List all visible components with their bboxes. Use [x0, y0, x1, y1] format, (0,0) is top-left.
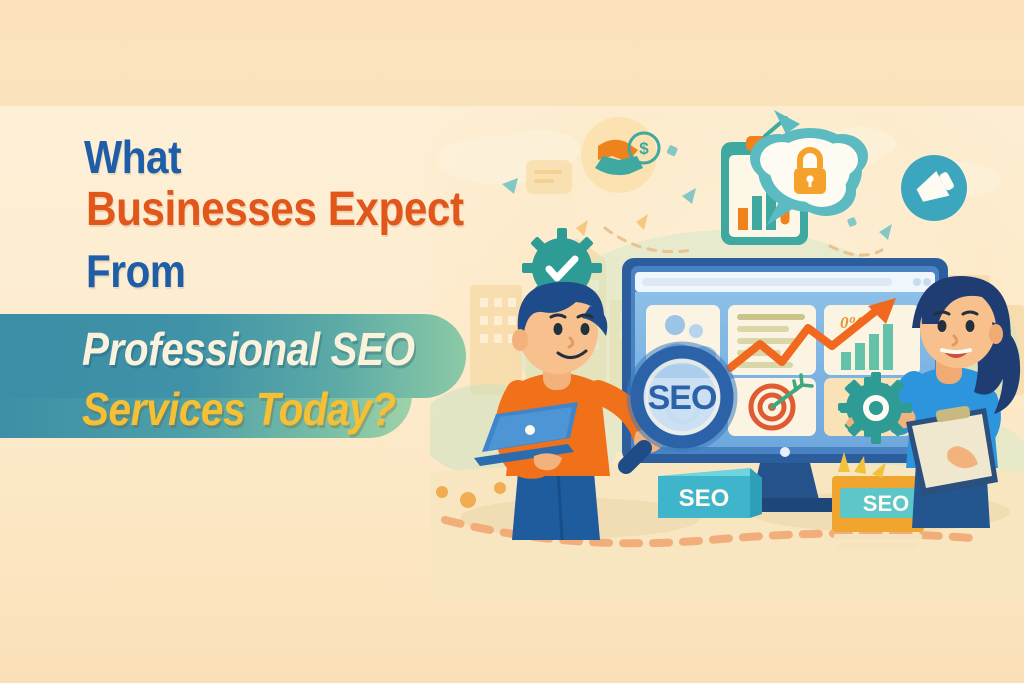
svg-text:$: $ [639, 139, 649, 158]
seo-illustration: $ [430, 100, 1024, 600]
held-gear-icon [840, 372, 912, 444]
headline-line-3: From [86, 244, 185, 298]
headline-line-2: Businesses Expect [86, 182, 464, 237]
seo-box-left: SEO [658, 468, 762, 518]
headline-line-5: Services Today? [82, 382, 396, 436]
banner-canvas: What Businesses Expect From Professional… [0, 0, 1024, 683]
magnifier-seo-label: SEO [648, 379, 717, 417]
headline-line-4: Professional SEO [82, 322, 415, 376]
megaphone-icon [901, 155, 967, 221]
seo-box-right-label: SEO [863, 491, 909, 516]
headline-line-1: What [84, 130, 181, 184]
handshake-money-icon: $ [581, 117, 659, 193]
seo-box-left-label: SEO [679, 485, 730, 512]
